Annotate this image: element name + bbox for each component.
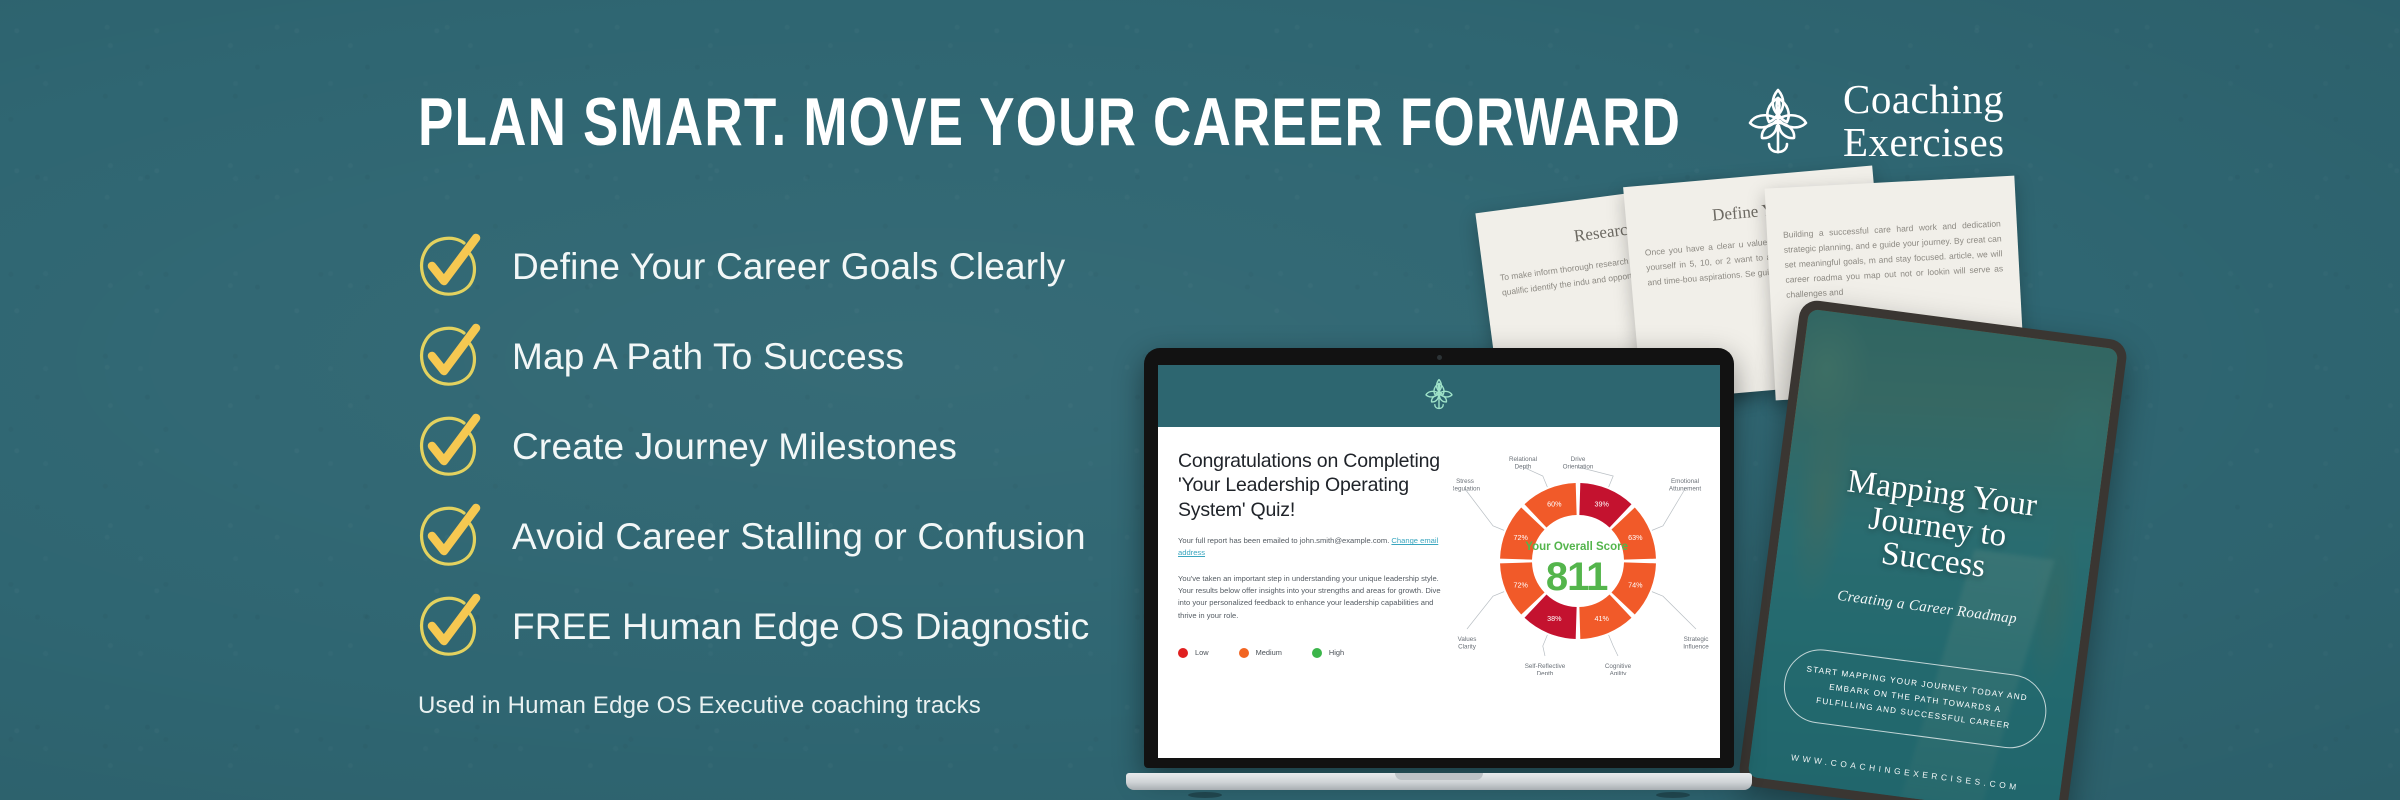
donut-segment-label: Depth [1537, 670, 1554, 675]
legend-item-low: Low [1178, 648, 1209, 658]
donut-segment-label: Emotional [1671, 478, 1699, 485]
tablet-screen: Mapping Your Journey to Success Creating… [1748, 309, 2119, 800]
list-item: Create Journey Milestones [412, 402, 1090, 492]
donut-segment-value: 41% [1595, 614, 1610, 623]
list-item: Map A Path To Success [412, 312, 1090, 402]
laptop-base [1126, 773, 1752, 790]
tablet-title: Mapping Your Journey to Success [1798, 460, 2077, 595]
laptop-screen: Congratulations on Completing 'Your Lead… [1158, 365, 1720, 758]
app-chart-area: 39%DriveOrientation63%EmotionalAttunemen… [1453, 449, 1700, 675]
legend-dot-high [1312, 648, 1322, 658]
checkmark-icon [412, 590, 486, 664]
donut-leader-line [1652, 489, 1685, 530]
donut-chart: 39%DriveOrientation63%EmotionalAttunemen… [1453, 445, 1700, 675]
donut-segment-label: Influence [1684, 643, 1710, 650]
app-header [1158, 365, 1720, 427]
laptop-notch [1395, 773, 1483, 780]
laptop-lid: Congratulations on Completing 'Your Lead… [1144, 348, 1734, 768]
email-note-text: Your full report has been emailed to joh… [1178, 536, 1391, 545]
checkmark-icon [412, 320, 486, 394]
donut-segment-label: Clarity [1458, 643, 1477, 650]
donut-segment-label: Orientation [1563, 463, 1594, 470]
page-title: PLAN SMART. MOVE YOUR CAREER FORWARD [418, 88, 1681, 156]
donut-segment-label: Attunement [1669, 485, 1701, 492]
promo-banner: PLAN SMART. MOVE YOUR CAREER FORWARD Def… [0, 0, 2400, 800]
donut-segment-label: Values [1458, 636, 1477, 643]
chart-legend: Low Medium High [1178, 648, 1445, 658]
overall-score-value: 811 [1453, 555, 1700, 600]
donut-segment-value: 38% [1547, 614, 1562, 623]
results-paragraph: You've taken an important step in unders… [1178, 573, 1445, 622]
donut-segment-label: Self-Reflective [1525, 663, 1566, 670]
legend-item-medium: Medium [1239, 648, 1282, 658]
legend-label: Medium [1256, 648, 1282, 657]
subnote: Used in Human Edge OS Executive coaching… [418, 692, 981, 720]
paper-body: Building a successful care hard work and… [1766, 202, 2020, 303]
list-item-label: Create Journey Milestones [512, 426, 957, 468]
tablet-content: Mapping Your Journey to Success Creating… [1748, 309, 2119, 800]
webcam-icon [1437, 355, 1442, 360]
checkmark-icon [412, 410, 486, 484]
laptop-foot-left [1188, 792, 1222, 798]
list-item: Define Your Career Goals Clearly [412, 222, 1090, 312]
donut-leader-line [1609, 635, 1618, 656]
list-item: Avoid Career Stalling or Confusion [412, 492, 1090, 582]
tablet-cta-text: START MAPPING YOUR JOURNEY TODAY AND EMB… [1779, 645, 2050, 752]
list-item-label: Define Your Career Goals Clearly [512, 246, 1065, 288]
email-note: Your full report has been emailed to joh… [1178, 535, 1445, 560]
donut-segment-value: 39% [1595, 499, 1610, 508]
lotus-tree-icon [1735, 78, 1821, 164]
app-results-text: Congratulations on Completing 'Your Lead… [1178, 449, 1445, 675]
legend-label: Low [1195, 648, 1209, 657]
laptop-foot-right [1656, 792, 1690, 798]
list-item-label: Map A Path To Success [512, 336, 904, 378]
donut-segment-label: Agility [1610, 670, 1628, 675]
donut-segment-label: Relational [1509, 456, 1537, 463]
list-item-label: Avoid Career Stalling or Confusion [512, 516, 1086, 558]
brand-line-2: Exercises [1843, 121, 2005, 164]
donut-segment-label: Stress [1456, 478, 1474, 485]
tablet-mockup: Mapping Your Journey to Success Creating… [1737, 299, 2128, 800]
donut-leader-line [1465, 489, 1504, 530]
list-item: FREE Human Edge OS Diagnostic [412, 582, 1090, 672]
donut-segment-label: Drive [1571, 456, 1586, 463]
legend-dot-medium [1239, 648, 1249, 658]
donut-segment-label: Cognitive [1605, 663, 1632, 670]
donut-segment-value: 60% [1547, 499, 1562, 508]
brand-line-1: Coaching [1843, 78, 2005, 121]
tablet-url: WWW.COACHINGEXERCISES.COM [1750, 747, 2061, 798]
overall-score-label: Your Overall Score [1453, 541, 1700, 553]
app-body: Congratulations on Completing 'Your Lead… [1158, 427, 1720, 675]
checkmark-icon [412, 500, 486, 574]
list-item-label: FREE Human Edge OS Diagnostic [512, 606, 1090, 648]
legend-item-high: High [1312, 648, 1344, 658]
lotus-tree-icon [1419, 374, 1459, 419]
laptop-mockup: Congratulations on Completing 'Your Lead… [1126, 348, 1752, 800]
brand-wordmark: Coaching Exercises [1843, 78, 2005, 165]
checkmark-icon [412, 230, 486, 304]
tablet-subtitle: Creating a Career Roadmap [1793, 582, 2061, 634]
donut-segment-label: Strategic [1684, 636, 1709, 643]
legend-dot-low [1178, 648, 1188, 658]
donut-segment-label: Depth [1515, 463, 1532, 470]
app-title: Congratulations on Completing 'Your Lead… [1178, 449, 1445, 522]
donut-leader-line [1543, 635, 1548, 656]
brand-logo: Coaching Exercises [1735, 78, 2005, 165]
benefits-checklist: Define Your Career Goals Clearly Map A P… [412, 222, 1090, 672]
donut-segment-label: Regulation [1453, 485, 1481, 492]
legend-label: High [1329, 648, 1344, 657]
